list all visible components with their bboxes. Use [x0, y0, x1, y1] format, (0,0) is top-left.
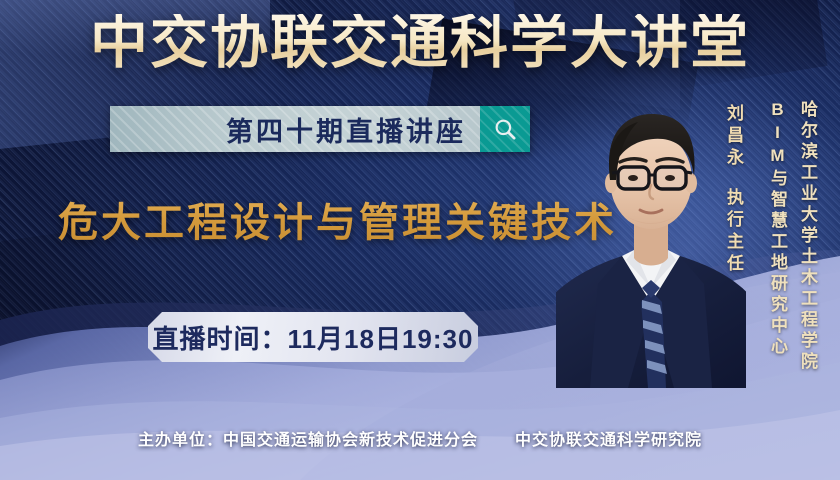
- footer-organizers: 主办单位：中国交通运输协会新技术促进分会 中交协联交通科学研究院: [0, 426, 840, 450]
- speaker-org-line1: 哈尔滨工业大学土木工程学院: [798, 100, 816, 373]
- search-button[interactable]: [480, 106, 530, 152]
- lecture-headline: 危大工程设计与管理关键技术: [58, 190, 617, 248]
- speaker-role: 执行主任: [724, 188, 742, 276]
- speaker-name: 刘昌永: [724, 104, 742, 170]
- subtitle-bar-body: 第四十期直播讲座: [110, 106, 480, 152]
- live-time-text: 直播时间：11月18日19:30: [153, 319, 474, 356]
- webinar-poster: 中交协联交通科学大讲堂 第四十期直播讲座 危大工程设计与管理关键技术 直播时间：…: [0, 0, 840, 480]
- subtitle-bar: 第四十期直播讲座: [110, 106, 530, 152]
- footer-organizer-label: 主办单位：中国交通运输协会新技术促进分会: [138, 432, 478, 449]
- search-icon: [492, 116, 518, 142]
- footer-organizer-second: 中交协联交通科学研究院: [515, 432, 702, 449]
- page-title: 中交协联交通科学大讲堂: [0, 14, 840, 72]
- subtitle-label: 第四十期直播讲座: [226, 110, 466, 149]
- speaker-org-line2: BIM与智慧工地研究中心: [768, 100, 786, 358]
- live-time-badge: 直播时间：11月18日19:30: [148, 312, 478, 362]
- speaker-portrait: [556, 88, 746, 388]
